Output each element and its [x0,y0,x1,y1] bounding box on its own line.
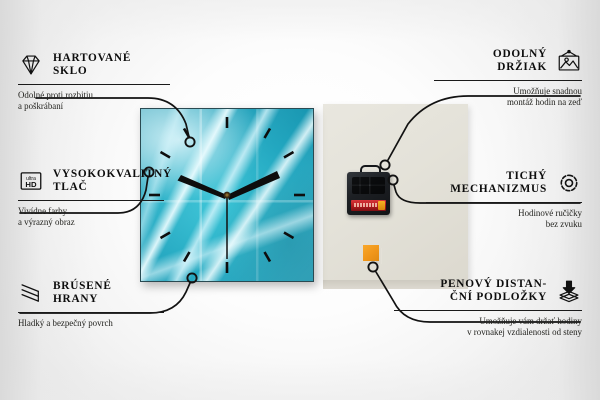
callout-title-line2: TLAČ [53,181,172,194]
callout-durable-holder: ODOLNÝ DRŽIAK Umožňuje snadnou montáž ho… [408,48,582,109]
down-arrow-stack-icon [556,278,582,304]
callout-divider [18,84,170,85]
callout-description: Hodinové ručičky bez zvuku [400,208,582,231]
callout-header: HARTOVANÉ SKLO [18,52,190,79]
callout-desc-line2: montáž hodin na zeď [408,97,582,109]
callout-title-line2: DRŽIAK [493,61,547,74]
callout-title: HARTOVANÉ SKLO [53,52,131,79]
infographic-canvas: HARTOVANÉ SKLO Odolné proti rozbitiu a p… [0,0,600,400]
callout-header: TICHÝ MECHANIZMUS [400,170,582,197]
battery-positive-terminal [378,201,385,210]
callout-title-line2: HRANY [53,293,112,306]
callout-title-line2: SKLO [53,65,131,78]
callout-header: PENOVÝ DISTAN- ČNÍ PODLOŽKY [394,278,582,305]
callout-silent-mechanism: TICHÝ MECHANIZMUS Hodinové ručičky bez z… [400,170,582,231]
callout-high-quality-print: ultra HD VYSOKOKVALITNÝ TLAČ Vivídne far… [18,168,184,229]
callout-polished-edges: BRÚSENÉ HRANY Hladký a bezpečný povrch [18,280,184,329]
callout-divider [394,310,582,311]
callout-title: TICHÝ MECHANIZMUS [450,170,547,197]
callout-header: BRÚSENÉ HRANY [18,280,184,307]
quartz-mechanism [347,172,390,215]
hour-hand [178,175,228,199]
callout-title: PENOVÝ DISTAN- ČNÍ PODLOŽKY [440,278,547,305]
callout-desc-line2: bez zvuku [400,219,582,231]
callout-title-line1: BRÚSENÉ [53,280,112,293]
callout-desc-line1: Umožňuje vám držať hodiny [394,316,582,328]
callout-description: Umožňuje vám držať hodiny v rovnakej vzd… [394,316,582,339]
callout-title: ODOLNÝ DRŽIAK [493,48,547,75]
callout-divider [18,200,164,201]
callout-header: ultra HD VYSOKOKVALITNÝ TLAČ [18,168,184,195]
callout-title-line2: MECHANIZMUS [450,183,547,196]
diamond-icon [18,52,44,78]
callout-desc-line2: a poškrábaní [18,101,190,113]
callout-divider [426,202,582,203]
callout-description: Vivídne farby a výrazný obraz [18,206,184,229]
callout-desc-line1: Odolné proti rozbitiu [18,90,190,102]
callout-divider [18,312,164,313]
callout-desc-line2: v rovnakej vzdialenosti od steny [394,327,582,339]
clock-center-pin [225,193,228,196]
callout-desc-line2: a výrazný obraz [18,217,184,229]
callout-description: Hladký a bezpečný povrch [18,318,184,330]
callout-title: BRÚSENÉ HRANY [53,280,112,307]
callout-title-line1: ODOLNÝ [493,48,547,61]
foam-spacer-pad [363,245,382,264]
gear-icon [556,170,582,196]
callout-desc-line1: Umožňuje snadnou [408,86,582,98]
callout-desc-line1: Vivídne farby [18,206,184,218]
callout-title-line1: HARTOVANÉ [53,52,131,65]
mechanism-body [347,172,390,215]
battery-label [354,203,378,207]
ultra-hd-icon-main-label: HD [25,181,37,190]
battery [351,200,386,211]
ultra-hd-icon: ultra HD [18,168,44,194]
callout-description: Umožňuje snadnou montáž hodin na zeď [408,86,582,109]
callout-title-line1: VYSOKOKVALITNÝ [53,168,172,181]
callout-title-line1: PENOVÝ DISTAN- [440,278,547,291]
callout-header: ODOLNÝ DRŽIAK [408,48,582,75]
foam-pad-front [363,245,379,261]
callout-title: VYSOKOKVALITNÝ TLAČ [53,168,172,195]
callout-title-line1: TICHÝ [450,170,547,183]
callout-divider [434,80,582,81]
callout-desc-line1: Hodinové ručičky [400,208,582,220]
diagonal-lines-icon [18,280,44,306]
callout-desc-line1: Hladký a bezpečný povrch [18,318,184,330]
minute-hand [227,171,280,200]
picture-frame-icon [556,48,582,74]
callout-foam-spacers: PENOVÝ DISTAN- ČNÍ PODLOŽKY Umožňuje vám… [394,278,582,339]
mechanism-vents [352,177,385,194]
callout-description: Odolné proti rozbitiu a poškrábaní [18,90,190,113]
callout-title-line2: ČNÍ PODLOŽKY [440,291,547,304]
callout-tempered-glass: HARTOVANÉ SKLO Odolné proti rozbitiu a p… [18,52,190,113]
